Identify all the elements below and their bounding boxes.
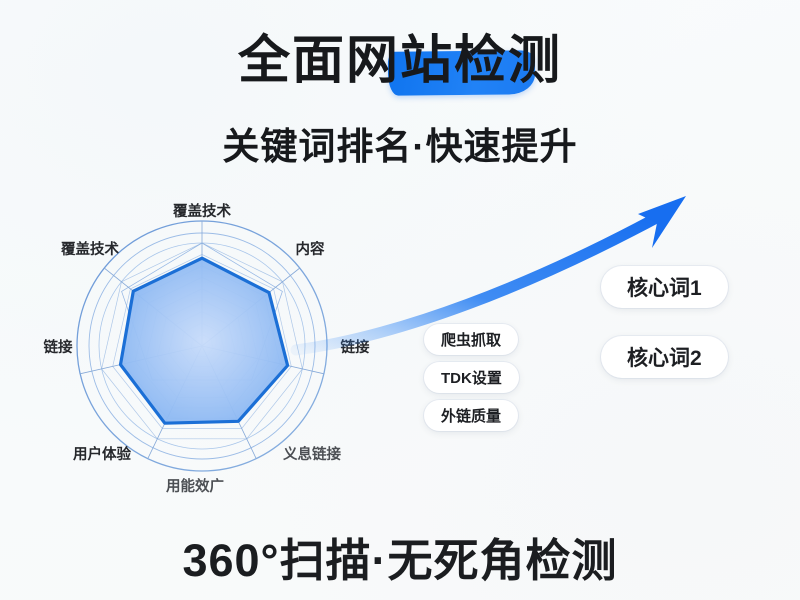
- pill-tdk[interactable]: TDK设置: [424, 362, 519, 393]
- headline-container: 全面网站检测: [0, 34, 800, 89]
- pill-backlink[interactable]: 外链质量: [424, 400, 518, 431]
- radar-chart: 覆盖技术 内容 链接 义息链接 用能效广 用户体验 覆盖技术 链接: [20, 186, 420, 516]
- pill-keyword-1[interactable]: 核心词1: [601, 266, 728, 308]
- radar-data-polygon: [121, 258, 288, 423]
- title-segment-after: 检测: [454, 32, 562, 90]
- page-title: 全面网站检测: [238, 34, 562, 89]
- pill-crawl[interactable]: 爬虫抓取: [424, 324, 518, 355]
- radar-label-lower-right: 义息链接: [283, 445, 341, 463]
- pill-keyword-2[interactable]: 核心词2: [601, 336, 728, 378]
- radar-label-bottom: 用能效广: [166, 477, 224, 495]
- arrow-head: [638, 196, 686, 248]
- title-segment-highlight: 网站: [346, 32, 454, 90]
- title-segment-before: 全面: [238, 32, 346, 90]
- radar-label-top: 覆盖技术: [173, 202, 231, 220]
- radar-label-right: 链接: [341, 338, 370, 356]
- radar-data-series: [121, 258, 288, 423]
- radar-label-upper-right: 内容: [296, 240, 325, 258]
- radar-label-upper-left: 覆盖技术: [61, 240, 119, 258]
- page-subtitle: 关键词排名·快速提升: [0, 116, 800, 170]
- radar-label-lower-left: 用户体验: [73, 445, 131, 463]
- page-footline: 360°扫描·无死角检测: [0, 524, 800, 589]
- radar-label-left: 链接: [44, 338, 73, 356]
- poster-canvas: 全面网站检测 关键词排名·快速提升: [0, 0, 800, 600]
